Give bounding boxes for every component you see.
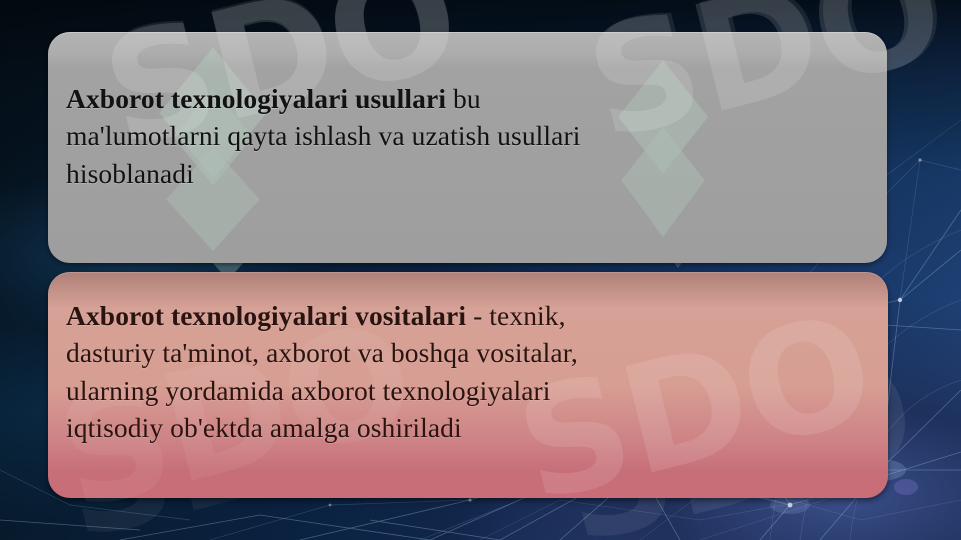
line-text: iqtisodiy ob'ektda amalga oshiriladi <box>66 412 462 443</box>
text-box-methods: SDO SDO Axborot texnologiyalari usullari… <box>48 32 887 263</box>
slide-canvas: SDO SDO SDO SDO <box>0 0 961 540</box>
line-text: bu <box>446 83 481 114</box>
text-box-methods-content: Axborot texnologiyalari usullari bu ma'l… <box>48 32 887 192</box>
paragraph-line: ma'lumotlarni qayta ishlash va uzatish u… <box>66 117 861 154</box>
line-text: - texnik, <box>466 300 566 331</box>
bold-term-methods: Axborot texnologiyalari usullari <box>66 83 446 114</box>
paragraph-line: iqtisodiy ob'ektda amalga oshiriladi <box>66 409 862 446</box>
paragraph-line: dasturiy ta'minot, axborot va boshqa vos… <box>66 334 862 371</box>
bold-term-tools: Axborot texnologiyalari vositalari <box>66 300 466 331</box>
line-text: dasturiy ta'minot, axborot va boshqa vos… <box>66 337 578 368</box>
paragraph-line: hisoblanadi <box>66 155 861 192</box>
paragraph-line: ularning yordamida axborot texnologiyala… <box>66 372 862 409</box>
text-box-tools-content: Axborot texnologiyalari vositalari - tex… <box>48 272 888 446</box>
paragraph-line: Axborot texnologiyalari usullari bu <box>66 80 861 117</box>
line-text: hisoblanadi <box>66 158 194 189</box>
line-text: ma'lumotlarni qayta ishlash va uzatish u… <box>66 120 580 151</box>
line-text: ularning yordamida axborot texnologiyala… <box>66 375 551 406</box>
text-box-tools: SDO SDO Axborot texnologiyalari vositala… <box>48 272 888 498</box>
paragraph-line: Axborot texnologiyalari vositalari - tex… <box>66 297 862 334</box>
